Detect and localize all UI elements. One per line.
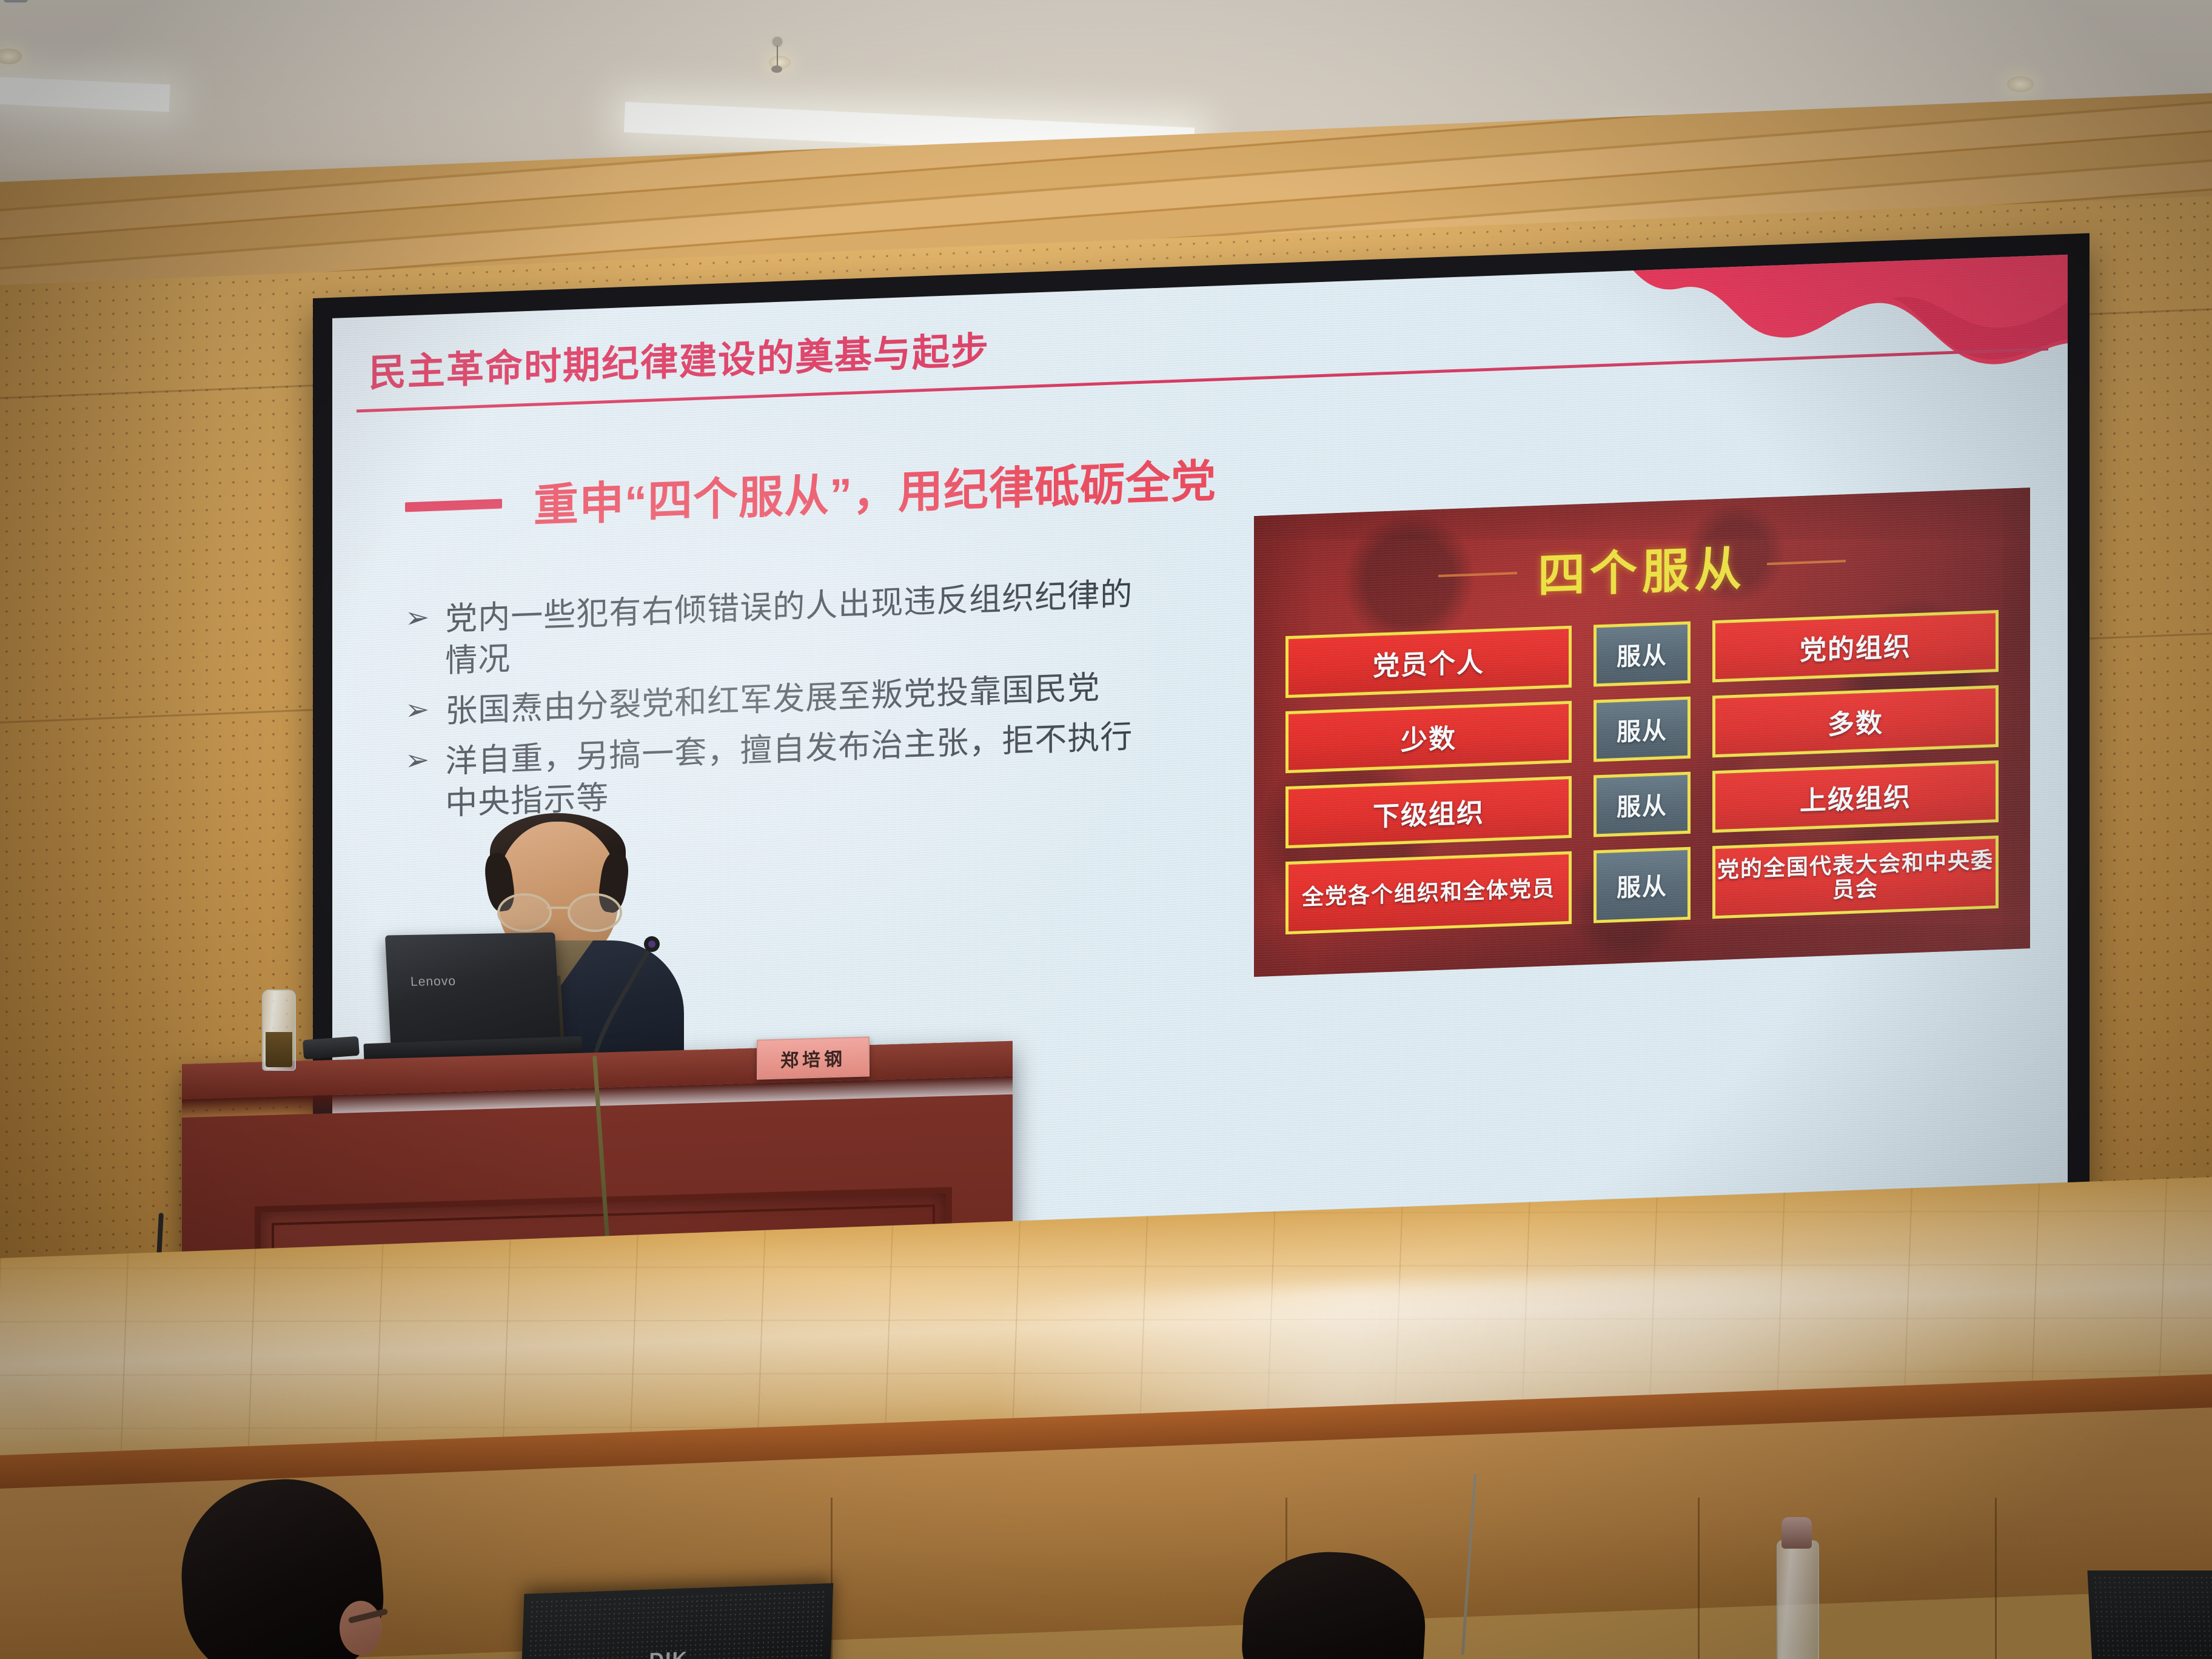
front-wall-seam: [1698, 1498, 1700, 1659]
matrix-cell-middle: 服从: [1594, 772, 1691, 837]
table-row: 少数 服从 多数: [1285, 685, 1999, 773]
matrix-cell-right: 上级组织: [1712, 760, 1999, 833]
tea-bottle: [262, 990, 296, 1071]
matrix-cell-middle: 服从: [1594, 847, 1691, 923]
table-row: 党员个人 服从 党的组织: [1285, 610, 1999, 698]
matrix-cell-left: 党员个人: [1285, 626, 1572, 698]
matrix-cell-left: 少数: [1285, 701, 1572, 773]
panel-title: 四个服从: [1538, 531, 1746, 606]
nameplate: 郑培钢: [757, 1036, 870, 1079]
presentation-remote: [303, 1036, 360, 1059]
laptop-screen: Lenovo: [385, 933, 561, 1051]
matrix-cell-left: 下级组织: [1285, 776, 1572, 848]
matrix-cell-right: 党的全国代表大会和中央委员会: [1712, 836, 1999, 919]
ceiling-downlight: [2007, 76, 2034, 92]
bullet-text: 洋自重，另搞一套，擅自发布治主张，拒不执行中央指示等: [445, 716, 1145, 825]
nameplate-text: 郑培钢: [780, 1044, 846, 1072]
bullet-arrow-icon: ➢: [405, 600, 429, 684]
speaker-brand-label: DIK: [649, 1647, 689, 1659]
bullet-arrow-icon: ➢: [405, 692, 429, 734]
panel-rule-right-icon: [1767, 560, 1846, 565]
glasses-lens-right: [568, 893, 622, 932]
glasses-bridge: [547, 907, 569, 909]
matrix-cell-middle: 服从: [1594, 697, 1691, 762]
water-bottle-cap: [1781, 1517, 1812, 1549]
glasses-lens-left: [497, 893, 552, 932]
audience-ear: [340, 1601, 382, 1655]
matrix-cell-left: 全党各个组织和全体党员: [1285, 851, 1572, 934]
heading-dash-icon: [405, 498, 502, 512]
front-wall-seam: [1995, 1498, 1997, 1659]
bullet-text: 党内一些犯有右倾错误的人出现违反组织纪律的情况: [445, 574, 1145, 683]
slide-bullet-list: ➢ 党内一些犯有右倾错误的人出现违反组织纪律的情况 ➢ 张国焘由分裂党和红军发展…: [405, 574, 1145, 835]
tea-bottle-cap: [4, 0, 28, 2]
side-speaker: [2087, 1570, 2212, 1659]
panel-title-row: 四个服从: [1254, 520, 2030, 617]
sprinkler-icon: [773, 38, 782, 46]
red-ribbon-decoration: [1631, 255, 2068, 424]
lecture-hall-photo: 民主革命时期纪律建设的奠基与起步 重申“四个服从”，用纪律砥砺全党 ➢ 党内一些…: [0, 0, 2212, 1659]
slide-heading: 重申“四个服从”，用纪律砥砺全党: [405, 444, 1216, 539]
water-bottle: [1777, 1540, 1819, 1659]
list-item: ➢ 党内一些犯有右倾错误的人出现违反组织纪律的情况: [405, 574, 1145, 685]
obedience-matrix: 党员个人 服从 党的组织 少数 服从 多数 下级组织 服从 上级组织: [1285, 610, 1999, 934]
matrix-cell-middle: 服从: [1594, 622, 1691, 687]
matrix-cell-right: 多数: [1712, 685, 1999, 757]
table-row: 全党各个组织和全体党员 服从 党的全国代表大会和中央委员会: [1285, 836, 1999, 934]
glasses-icon: [496, 893, 621, 927]
speaker-grille: [2093, 1575, 2212, 1659]
tea-liquid: [266, 1032, 292, 1067]
slide-header-title: 民主革命时期纪律建设的奠基与起步: [369, 320, 990, 397]
matrix-cell-right: 党的组织: [1712, 610, 1999, 682]
bullet-arrow-icon: ➢: [405, 742, 429, 826]
stage-monitor-speaker: DIK: [519, 1583, 833, 1659]
table-row: 下级组织 服从 上级组织: [1285, 760, 1999, 848]
list-item: ➢ 洋自重，另搞一套，擅自发布治主张，拒不执行中央指示等: [405, 716, 1145, 826]
four-obediences-panel: 四个服从 党员个人 服从 党的组织 少数 服从 多数 下级组织: [1254, 488, 2030, 977]
panel-rule-left-icon: [1438, 572, 1517, 577]
slide-heading-text: 重申“四个服从”，用纪律砥砺全党: [534, 444, 1216, 534]
sprinkler-head-icon: [771, 65, 782, 73]
laptop-brand-label: Lenovo: [410, 974, 456, 990]
